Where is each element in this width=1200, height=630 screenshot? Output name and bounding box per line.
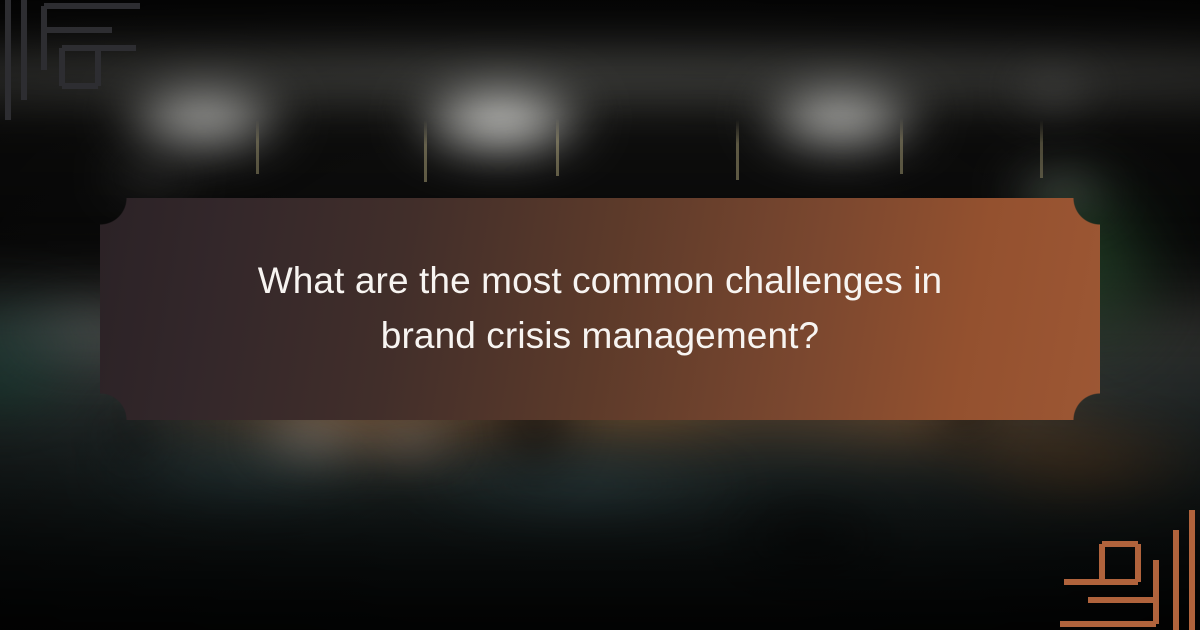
question-card-content: What are the most common challenges in b… (100, 198, 1100, 420)
question-card: What are the most common challenges in b… (100, 198, 1100, 420)
question-text: What are the most common challenges in b… (220, 254, 980, 364)
screenshot-root: What are the most common challenges in b… (0, 0, 1200, 630)
